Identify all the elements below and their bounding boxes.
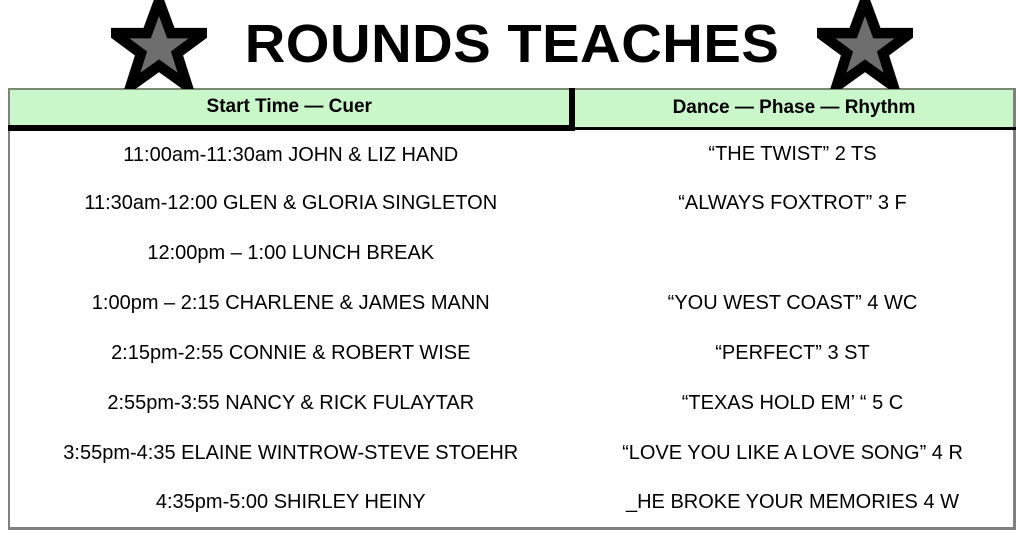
rounds-teaches-schedule-table: Start Time — Cuer Dance — Phase — Rhythm…	[8, 88, 1017, 530]
cell-dance-phase-rhythm: “YOU WEST COAST” 4 WC	[572, 278, 1015, 328]
column-header-start-time-cuer: Start Time — Cuer	[9, 89, 572, 128]
cell-dance-phase-rhythm: “LOVE YOU LIKE A LOVE SONG” 4 R	[572, 428, 1015, 478]
table-row: 3:55pm-4:35 ELAINE WINTROW-STEVE STOEHR …	[9, 428, 1015, 478]
table-body: 11:00am-11:30am JOHN & LIZ HAND “THE TWI…	[9, 128, 1015, 528]
cell-start-time-cuer: 2:15pm-2:55 CONNIE & ROBERT WISE	[9, 328, 572, 378]
cell-start-time-cuer: 2:55pm-3:55 NANCY & RICK FULAYTAR	[9, 378, 572, 428]
cell-dance-phase-rhythm: “PERFECT” 3 ST	[572, 328, 1015, 378]
column-header-dance-phase-rhythm: Dance — Phase — Rhythm	[572, 89, 1015, 128]
cell-start-time-cuer: 11:30am-12:00 GLEN & GLORIA SINGLETON	[9, 178, 572, 228]
table-header: Start Time — Cuer Dance — Phase — Rhythm	[9, 89, 1015, 128]
cell-start-time-cuer: 3:55pm-4:35 ELAINE WINTROW-STEVE STOEHR	[9, 428, 572, 478]
cell-start-time-cuer: 4:35pm-5:00 SHIRLEY HEINY	[9, 478, 572, 528]
table-row: 11:30am-12:00 GLEN & GLORIA SINGLETON “A…	[9, 178, 1015, 228]
cell-dance-phase-rhythm: “TEXAS HOLD EM’ “ 5 C	[572, 378, 1015, 428]
cell-dance-phase-rhythm: _HE BROKE YOUR MEMORIES 4 W	[572, 478, 1015, 528]
title-banner: ROUNDS TEACHES	[0, 0, 1024, 88]
table-row: 2:15pm-2:55 CONNIE & ROBERT WISE “PERFEC…	[9, 328, 1015, 378]
star-icon	[817, 0, 913, 89]
cell-dance-phase-rhythm: “THE TWIST” 2 TS	[572, 128, 1015, 178]
table-row: 1:00pm – 2:15 CHARLENE & JAMES MANN “YOU…	[9, 278, 1015, 328]
cell-start-time-cuer: 12:00pm – 1:00 LUNCH BREAK	[9, 228, 572, 278]
star-icon	[111, 0, 207, 89]
page-title: ROUNDS TEACHES	[245, 17, 780, 71]
cell-dance-phase-rhythm: “ALWAYS FOXTROT” 3 F	[572, 178, 1015, 228]
cell-dance-phase-rhythm	[572, 228, 1015, 278]
table-row: 2:55pm-3:55 NANCY & RICK FULAYTAR “TEXAS…	[9, 378, 1015, 428]
cell-start-time-cuer: 1:00pm – 2:15 CHARLENE & JAMES MANN	[9, 278, 572, 328]
table-row: 11:00am-11:30am JOHN & LIZ HAND “THE TWI…	[9, 128, 1015, 178]
cell-start-time-cuer: 11:00am-11:30am JOHN & LIZ HAND	[9, 128, 572, 178]
table-row: 4:35pm-5:00 SHIRLEY HEINY _HE BROKE YOUR…	[9, 478, 1015, 528]
table-row: 12:00pm – 1:00 LUNCH BREAK	[9, 228, 1015, 278]
table-header-row: Start Time — Cuer Dance — Phase — Rhythm	[9, 89, 1015, 128]
